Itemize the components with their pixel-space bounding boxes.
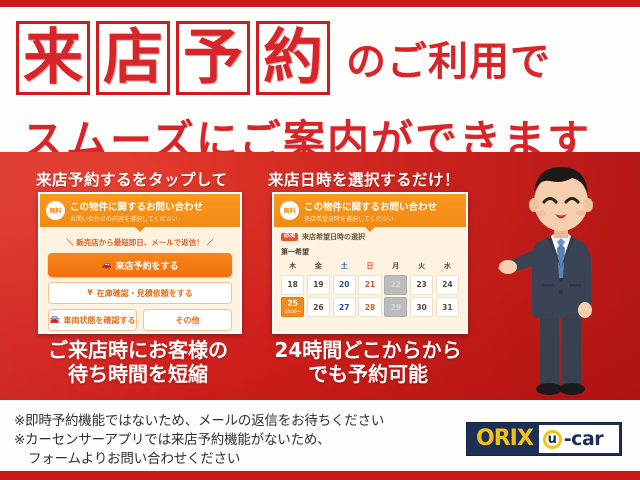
card-header-right: 無料 この物件に関するお問い合わせ 来店希望日時を選択してください: [274, 194, 466, 227]
u-circle-icon: u: [543, 430, 562, 449]
kanji-box-4: 約: [256, 21, 330, 95]
kanji-box-1: 来: [16, 21, 90, 95]
calendar-day-19[interactable]: 19: [307, 275, 330, 295]
calendar-day-number: 22: [391, 280, 401, 289]
footer-note-1: ※即時予約機能ではないため、メールの返信をお待ちください: [14, 412, 444, 431]
footer-note-3: フォームよりお問い合わせください: [14, 450, 444, 469]
headline-section: 来 店 予 約 のご利用で スムーズにご案内ができます: [0, 9, 640, 149]
calendar-weekday-火: 火: [410, 261, 433, 272]
other-button[interactable]: その他: [143, 309, 232, 331]
calendar-day-number: 24: [442, 280, 452, 289]
inquiry-form-card: 無料 この物件に関するお問い合わせ お問い合わせの内容を選択してください ＼ 販…: [38, 192, 242, 334]
calendar-day-number: 26: [313, 303, 323, 312]
calendar-day-time: 14:00〜: [285, 309, 301, 315]
header-notch-right: [365, 227, 375, 232]
card-header-subtitle-right: 来店希望日時を選択してください: [304, 214, 437, 223]
required-row: 必須 来店希望日時の選択: [281, 232, 459, 242]
calendar-day-number: 27: [339, 303, 349, 312]
free-badge-right: 無料: [280, 201, 299, 220]
calendar-day-29: 29: [384, 297, 407, 317]
tertiary-button-row: 🚘 車両状態を確認する その他: [48, 309, 232, 331]
card-header-left: 無料 この物件に関するお問い合わせ お問い合わせの内容を選択してください: [40, 194, 240, 227]
bottom-red-rule: [0, 471, 640, 480]
calendar-section-label: 来店希望日時の選択: [302, 232, 365, 242]
salesman-illustration: [498, 150, 624, 400]
calendar-day-22: 22: [384, 275, 407, 295]
yen-icon: ¥: [87, 289, 93, 297]
vehicle-condition-label: 車両状態を確認する: [63, 315, 135, 326]
stock-quote-label: 在庫確認・見積依頼をする: [97, 288, 193, 299]
car-icon: 🚗: [102, 261, 112, 269]
left-benefit-caption: ご来店時にお客様の 待ち時間を短縮: [14, 338, 262, 387]
car-side-icon: 🚘: [50, 316, 60, 324]
required-badge: 必須: [281, 233, 298, 242]
calendar-day-number: 25: [287, 299, 297, 308]
right-column-caption: 来店日時を選択するだけ！: [268, 168, 460, 190]
calendar-weekday-金: 金: [307, 261, 330, 272]
ucar-lockup: u -car: [539, 425, 619, 453]
calendar-day-number: 18: [287, 280, 297, 289]
calendar-day-25[interactable]: 2514:00〜: [281, 297, 304, 317]
promo-banner: 来 店 予 約 のご利用で スムーズにご案内ができます 来店予約するをタップして…: [0, 0, 640, 480]
calendar-day-number: 19: [313, 280, 323, 289]
calendar-day-30[interactable]: 30: [410, 297, 433, 317]
reserve-visit-label: 来店予約をする: [115, 259, 178, 272]
calendar-weekday-水: 水: [436, 261, 459, 272]
preference-label: 第一希望: [281, 247, 459, 257]
card-header-title-right: この物件に関するお問い合わせ: [304, 199, 437, 213]
free-badge-left: 無料: [46, 201, 65, 220]
orix-ucar-logo: ORIX u -car: [466, 422, 622, 456]
calendar-weekday-木: 木: [281, 261, 304, 272]
calendar-day-number: 23: [416, 280, 426, 289]
calendar-day-number: 31: [442, 303, 452, 312]
calendar-weekday-土: 土: [333, 261, 356, 272]
calendar-day-20[interactable]: 20: [333, 275, 356, 295]
kanji-box-2: 店: [96, 21, 170, 95]
right-benefit-line1: 24時間どこからから: [262, 338, 474, 362]
calendar-day-number: 20: [339, 280, 349, 289]
kanji-box-3: 予: [176, 21, 250, 95]
calendar-weekday-日: 日: [358, 261, 381, 272]
calendar-day-number: 28: [365, 303, 375, 312]
calendar-wrapper: 必須 来店希望日時の選択 第一希望 木金土日月火水181920212223242…: [274, 227, 466, 317]
card-header-subtitle-left: お問い合わせの内容を選択してください: [70, 214, 203, 223]
reply-lead-text: ＼ 販売店から最短即日、メールで返信！ ／: [40, 237, 240, 248]
right-benefit-line2: でも予約可能: [262, 362, 474, 386]
date-picker-card: 無料 この物件に関するお問い合わせ 来店希望日時を選択してください 必須 来店希…: [272, 192, 468, 334]
vehicle-condition-button[interactable]: 🚘 車両状態を確認する: [48, 309, 137, 331]
headline-tail: のご利用で: [346, 29, 551, 87]
left-column-caption: 来店予約するをタップして: [36, 168, 228, 190]
header-notch-left: [135, 227, 145, 232]
calendar-day-number: 21: [365, 280, 375, 289]
other-label: その他: [176, 315, 200, 326]
top-red-rule: [0, 0, 640, 7]
calendar-day-18[interactable]: 18: [281, 275, 304, 295]
boxed-kanji-row: 来 店 予 約 のご利用で: [16, 21, 551, 95]
left-benefit-line2: 待ち時間を短縮: [14, 362, 262, 386]
calendar-day-23[interactable]: 23: [410, 275, 433, 295]
calendar-weekday-月: 月: [384, 261, 407, 272]
calendar-day-21[interactable]: 21: [358, 275, 381, 295]
right-benefit-caption: 24時間どこからから でも予約可能: [262, 338, 474, 387]
left-benefit-line1: ご来店時にお客様の: [14, 338, 262, 362]
calendar-day-28[interactable]: 28: [358, 297, 381, 317]
calendar-day-31[interactable]: 31: [436, 297, 459, 317]
ucar-wordmark: -car: [564, 430, 603, 449]
footer-note-2: ※カーセンサーアプリでは来店予約機能がないため、: [14, 431, 444, 450]
calendar-grid[interactable]: 木金土日月火水181920212223242514:00〜26272829303…: [281, 261, 459, 317]
calendar-day-26[interactable]: 26: [307, 297, 330, 317]
calendar-day-number: 29: [391, 303, 401, 312]
calendar-day-24[interactable]: 24: [436, 275, 459, 295]
calendar-day-number: 30: [416, 303, 426, 312]
orix-wordmark: ORIX: [469, 428, 539, 450]
reserve-visit-button[interactable]: 🚗 来店予約をする: [48, 253, 232, 277]
footer-notes: ※即時予約機能ではないため、メールの返信をお待ちください ※カーセンサーアプリで…: [14, 412, 444, 469]
stock-quote-button[interactable]: ¥ 在庫確認・見積依頼をする: [48, 282, 232, 304]
calendar-day-27[interactable]: 27: [333, 297, 356, 317]
card-header-title-left: この物件に関するお問い合わせ: [70, 199, 203, 213]
